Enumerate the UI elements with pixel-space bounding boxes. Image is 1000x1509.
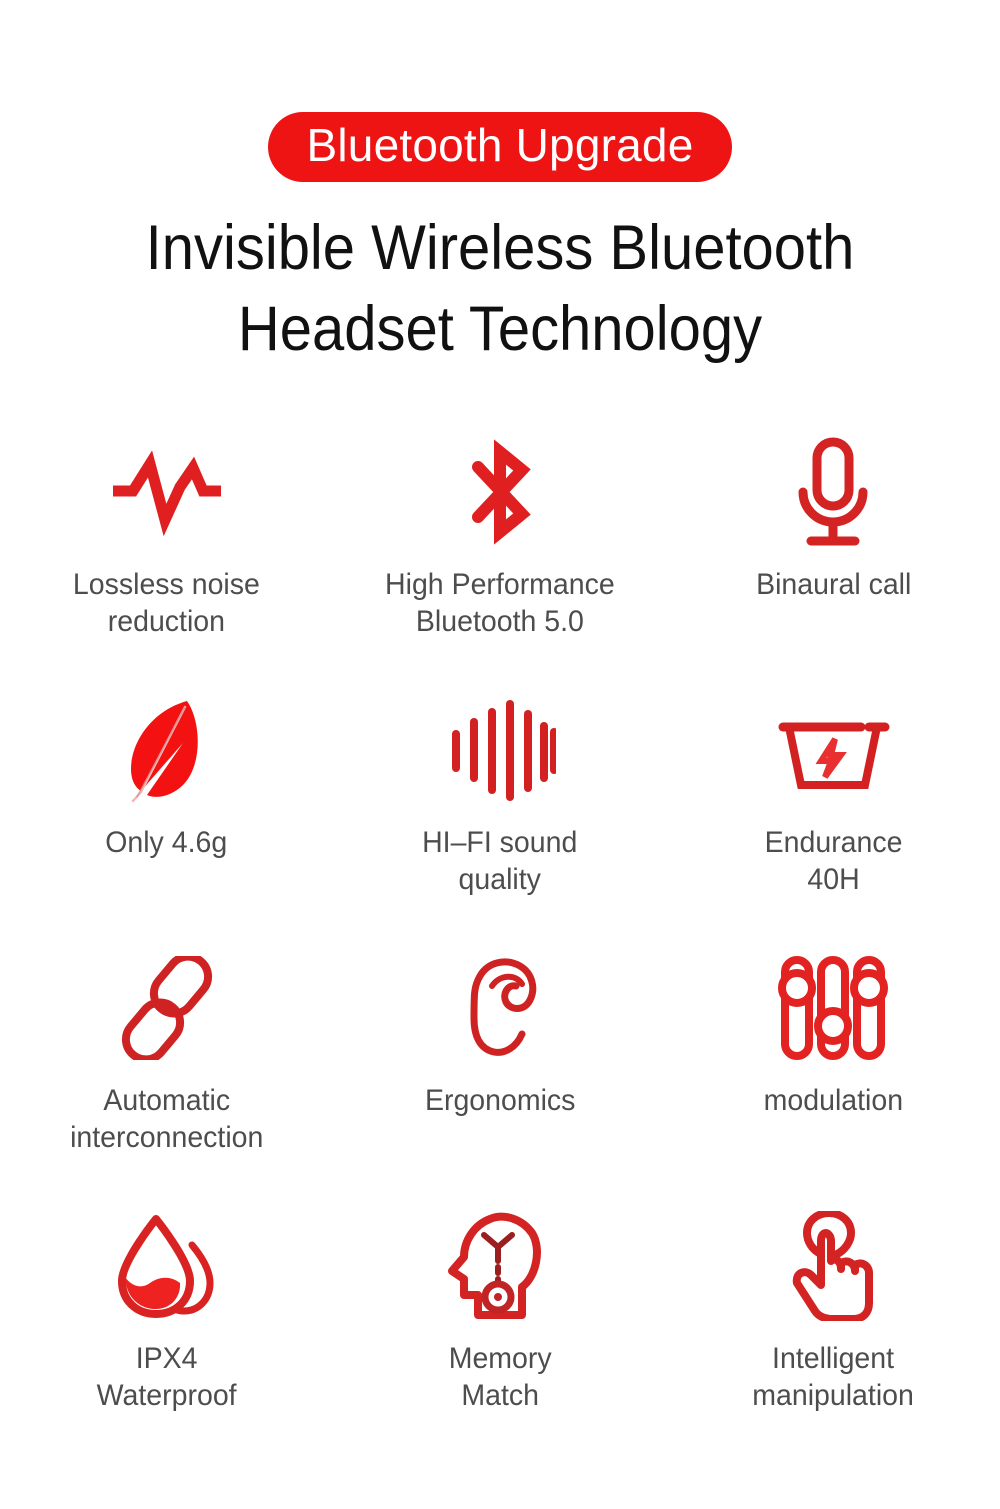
battery-charge-icon bbox=[768, 690, 898, 810]
feature-item-lossless-noise-reduction: Lossless noise reduction bbox=[0, 432, 333, 690]
feature-item-weight: Only 4.6g bbox=[0, 690, 333, 948]
feature-caption: Ergonomics bbox=[425, 1082, 575, 1119]
tap-hand-icon bbox=[768, 1206, 898, 1326]
microphone-icon bbox=[768, 432, 898, 552]
ear-icon bbox=[435, 948, 565, 1068]
feature-item-intelligent-manipulation: Intelligent manipulation bbox=[667, 1206, 1000, 1464]
feature-item-endurance: Endurance 40H bbox=[667, 690, 1000, 948]
feature-caption: Binaural call bbox=[756, 566, 911, 603]
feature-caption: IPX4 Waterproof bbox=[97, 1340, 237, 1414]
feature-caption: HI–FI sound quality bbox=[422, 824, 577, 898]
feature-caption: Automatic interconnection bbox=[70, 1082, 263, 1156]
head-memory-icon bbox=[435, 1206, 565, 1326]
feature-item-auto-interconnection: Automatic interconnection bbox=[0, 948, 333, 1206]
waveform-icon bbox=[102, 432, 232, 552]
feature-caption: Only 4.6g bbox=[106, 824, 228, 861]
feature-grid: Lossless noise reduction High Performanc… bbox=[0, 432, 1000, 1464]
feature-item-hifi-sound: HI–FI sound quality bbox=[333, 690, 666, 948]
feature-item-waterproof: IPX4 Waterproof bbox=[0, 1206, 333, 1464]
feature-caption: Lossless noise reduction bbox=[73, 566, 260, 640]
water-drops-icon bbox=[102, 1206, 232, 1326]
sound-bars-icon bbox=[435, 690, 565, 810]
infographic-page: Bluetooth Upgrade Invisible Wireless Blu… bbox=[0, 0, 1000, 1509]
sliders-icon bbox=[768, 948, 898, 1068]
feature-item-binaural-call: Binaural call bbox=[667, 432, 1000, 690]
bluetooth-icon bbox=[435, 432, 565, 552]
feature-caption: Memory Match bbox=[449, 1340, 552, 1414]
badge-container: Bluetooth Upgrade bbox=[0, 112, 1000, 182]
feature-item-modulation: modulation bbox=[667, 948, 1000, 1206]
feather-icon bbox=[102, 690, 232, 810]
feature-item-ergonomics: Ergonomics bbox=[333, 948, 666, 1206]
feature-caption: modulation bbox=[764, 1082, 903, 1119]
feature-item-memory-match: Memory Match bbox=[333, 1206, 666, 1464]
feature-caption: Endurance 40H bbox=[764, 824, 902, 898]
page-title: Invisible Wireless Bluetooth Headset Tec… bbox=[58, 208, 941, 369]
feature-caption: Intelligent manipulation bbox=[753, 1340, 915, 1414]
chain-link-icon bbox=[102, 948, 232, 1068]
feature-caption: High Performance Bluetooth 5.0 bbox=[385, 566, 615, 640]
feature-item-bluetooth-5: High Performance Bluetooth 5.0 bbox=[333, 432, 666, 690]
bluetooth-upgrade-badge: Bluetooth Upgrade bbox=[268, 112, 731, 182]
